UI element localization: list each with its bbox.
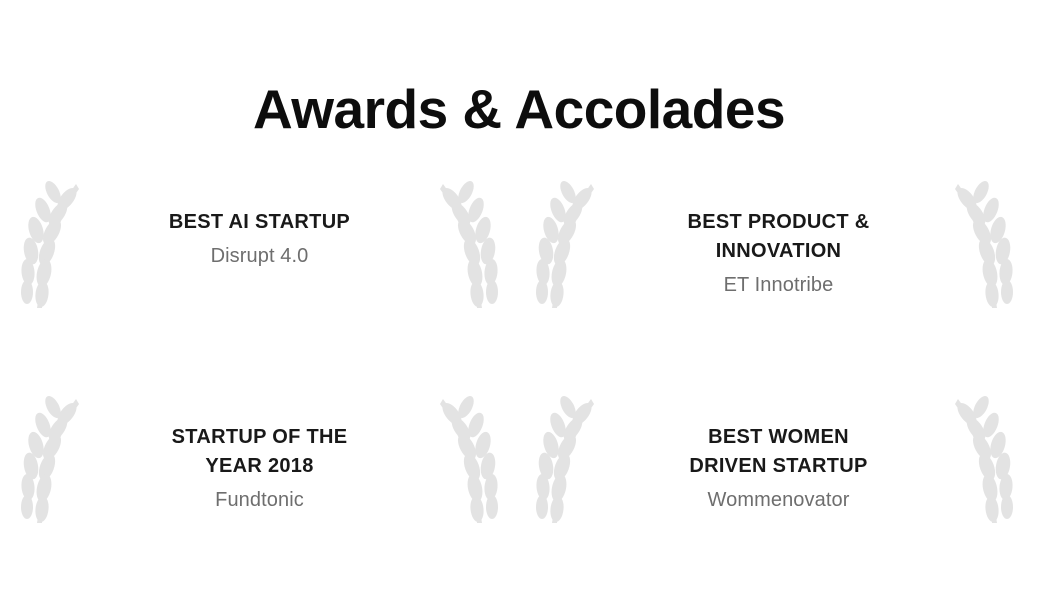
- awards-accolades-section: Awards & Accolades: [0, 0, 1038, 561]
- award-title: STARTUP OF THE YEAR 2018: [110, 423, 410, 481]
- laurel-branch-right-icon: [944, 180, 1016, 312]
- award-title-line1: BEST PRODUCT &: [688, 211, 870, 233]
- award-title: BEST PRODUCT & INNOVATION: [629, 208, 929, 266]
- laurel-branch-left-icon: [533, 180, 605, 312]
- laurel-branch-right-icon: [429, 395, 501, 527]
- award-subtitle: Fundtonic: [110, 485, 410, 515]
- laurel-branch-left-icon: [18, 395, 90, 527]
- award-item: STARTUP OF THE YEAR 2018 Fundtonic: [0, 385, 519, 600]
- award-text-block: STARTUP OF THE YEAR 2018 Fundtonic: [110, 423, 410, 515]
- laurel-branch-left-icon: [533, 395, 605, 527]
- laurel-branch-right-icon: [944, 395, 1016, 527]
- award-title-line1: STARTUP OF THE: [172, 426, 348, 448]
- award-title-line2: DRIVEN STARTUP: [689, 455, 867, 477]
- award-subtitle: ET Innotribe: [629, 270, 929, 300]
- award-title-line2: INNOVATION: [716, 240, 842, 262]
- award-title-line2: YEAR 2018: [205, 455, 313, 477]
- award-title: BEST WOMEN DRIVEN STARTUP: [629, 423, 929, 481]
- award-item: BEST WOMEN DRIVEN STARTUP Wommenovator: [519, 385, 1038, 600]
- award-text-block: BEST WOMEN DRIVEN STARTUP Wommenovator: [629, 423, 929, 515]
- award-subtitle: Disrupt 4.0: [110, 241, 410, 271]
- laurel-branch-left-icon: [18, 180, 90, 312]
- laurel-branch-right-icon: [429, 180, 501, 312]
- award-title: BEST AI STARTUP: [110, 208, 410, 237]
- award-title-line1: BEST AI STARTUP: [169, 211, 350, 233]
- award-item: BEST PRODUCT & INNOVATION ET Innotribe: [519, 170, 1038, 385]
- award-subtitle: Wommenovator: [629, 485, 929, 515]
- awards-grid: BEST AI STARTUP Disrupt 4.0: [0, 170, 1038, 600]
- award-text-block: BEST PRODUCT & INNOVATION ET Innotribe: [629, 208, 929, 300]
- award-title-line1: BEST WOMEN: [708, 426, 849, 448]
- page-title: Awards & Accolades: [0, 79, 1038, 140]
- award-item: BEST AI STARTUP Disrupt 4.0: [0, 170, 519, 385]
- award-text-block: BEST AI STARTUP Disrupt 4.0: [110, 208, 410, 271]
